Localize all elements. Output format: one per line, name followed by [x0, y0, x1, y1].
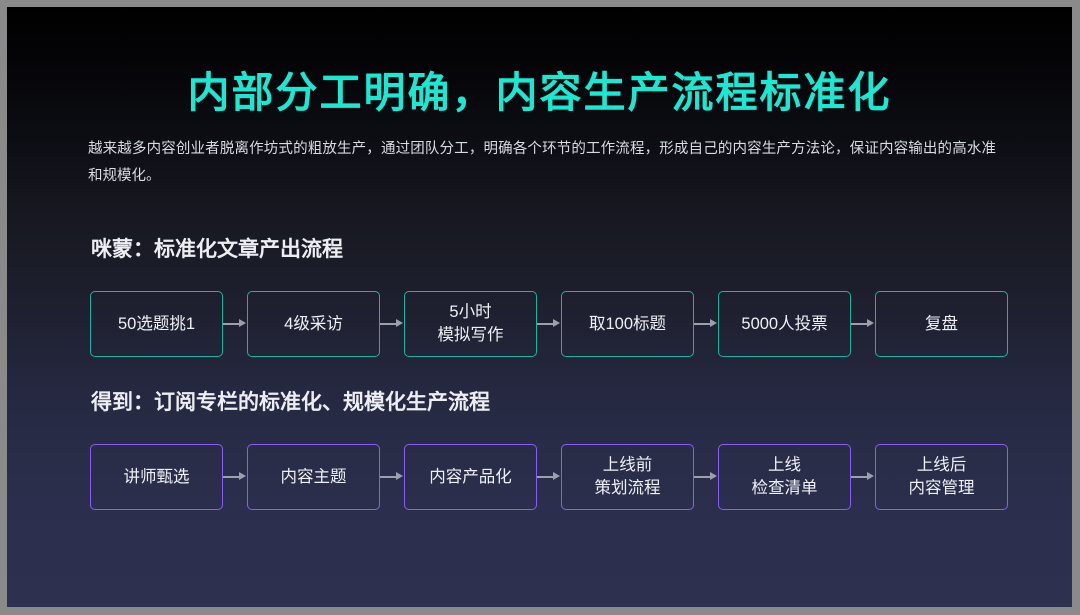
flow-step-line1: 4级采访: [284, 313, 343, 336]
flow-step-line1: 复盘: [925, 313, 958, 336]
arrow-right-icon: [694, 470, 718, 484]
slide-frame: 内部分工明确，内容生产流程标准化 越来越多内容创业者脱离作坊式的粗放生产，通过团…: [0, 0, 1080, 615]
arrow-right-icon: [694, 317, 718, 331]
arrow-right-icon: [537, 470, 561, 484]
flow-row-dedao: 讲师甄选 内容主题 内容产品化 上线前 策划流程: [90, 444, 1004, 510]
flow-step-line2: 内容管理: [909, 477, 975, 500]
flow-step-line1: 上线前: [603, 454, 653, 477]
flow-step-line1: 内容产品化: [429, 466, 512, 489]
flow-step-line1: 取100标题: [589, 313, 666, 336]
flow-step-line2: 检查清单: [752, 477, 818, 500]
flow-step-line1: 内容主题: [281, 466, 347, 489]
intro-paragraph: 越来越多内容创业者脱离作坊式的粗放生产，通过团队分工，明确各个环节的工作流程，形…: [88, 136, 996, 190]
flow-step-line2: 模拟写作: [438, 324, 504, 347]
flow-step-box[interactable]: 50选题挑1: [90, 291, 223, 357]
flow-step-box[interactable]: 5000人投票: [718, 291, 851, 357]
arrow-right-icon: [851, 317, 875, 331]
flow-step-line1: 50选题挑1: [118, 313, 195, 336]
flow-step-line1: 上线: [768, 454, 801, 477]
flow-step-box[interactable]: 5小时 模拟写作: [404, 291, 537, 357]
arrow-right-icon: [380, 470, 404, 484]
flow-step-box[interactable]: 内容主题: [247, 444, 380, 510]
flow-step-line1: 5000人投票: [741, 313, 827, 336]
arrow-right-icon: [851, 470, 875, 484]
flow-step-box[interactable]: 4级采访: [247, 291, 380, 357]
flow-step-box[interactable]: 上线 检查清单: [718, 444, 851, 510]
flow-step-box[interactable]: 上线前 策划流程: [561, 444, 694, 510]
arrow-right-icon: [537, 317, 561, 331]
flow-step-line2: 策划流程: [595, 477, 661, 500]
arrow-right-icon: [223, 470, 247, 484]
section-heading-dedao: 得到：订阅专栏的标准化、规模化生产流程: [91, 386, 490, 416]
flow-step-box[interactable]: 讲师甄选: [90, 444, 223, 510]
flow-step-box[interactable]: 取100标题: [561, 291, 694, 357]
section-heading-mimeng: 咪蒙：标准化文章产出流程: [91, 233, 343, 263]
arrow-right-icon: [223, 317, 247, 331]
flow-step-line1: 5小时: [449, 301, 491, 324]
arrow-right-icon: [380, 317, 404, 331]
flow-step-box[interactable]: 上线后 内容管理: [875, 444, 1008, 510]
flow-step-box[interactable]: 内容产品化: [404, 444, 537, 510]
flow-step-line1: 讲师甄选: [124, 466, 190, 489]
flow-step-box[interactable]: 复盘: [875, 291, 1008, 357]
flow-step-line1: 上线后: [917, 454, 967, 477]
page-title: 内部分工明确，内容生产流程标准化: [7, 59, 1072, 120]
slide-canvas: 内部分工明确，内容生产流程标准化 越来越多内容创业者脱离作坊式的粗放生产，通过团…: [7, 7, 1072, 607]
flow-row-mimeng: 50选题挑1 4级采访 5小时 模拟写作 取100标题: [90, 291, 1004, 357]
